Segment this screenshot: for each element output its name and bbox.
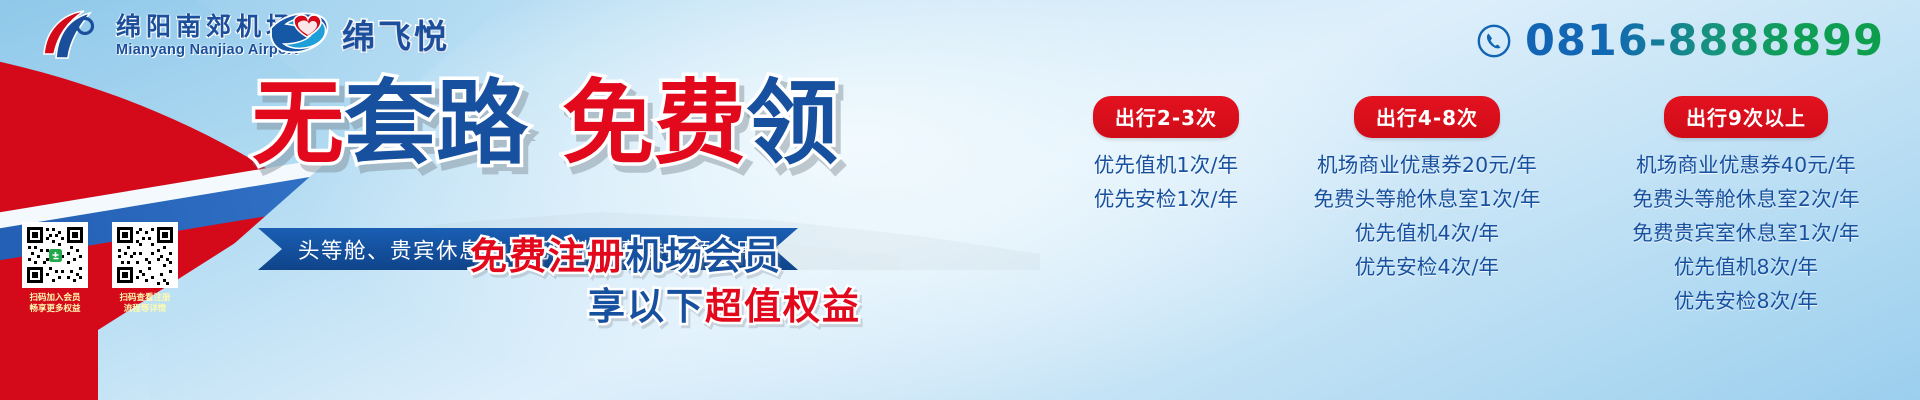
qr-caption-line-2: 畅享更多权益 [29, 304, 80, 315]
benefit-item: 机场商业优惠券20元/年 [1317, 151, 1537, 180]
benefit-item: 优先值机4次/年 [1355, 219, 1500, 248]
airport-logo: 绵阳南郊机场 Mianyang Nanjiao Airport [40, 8, 298, 64]
slogan-line-1-blue: 机场会员 [626, 235, 782, 278]
slogan-line-1-red: 免费注册 [470, 235, 626, 278]
slogan-line-2-red: 超值权益 [705, 285, 861, 328]
tier-column-2: 出行4-8次 机场商业优惠券20元/年 免费头等舱休息室1次/年 优先值机4次/… [1282, 96, 1572, 317]
benefit-item: 机场商业优惠券40元/年 [1636, 151, 1856, 180]
airport-swoosh-logo-icon [40, 8, 102, 64]
qr-caption-membership: 扫码加入会员 畅享更多权益 [29, 293, 80, 316]
tier-badge-1: 出行2-3次 [1093, 96, 1239, 138]
banner-header: 绵阳南郊机场 Mianyang Nanjiao Airport 绵飞悦 0816… [0, 0, 1920, 76]
tier-badge-3: 出行9次以上 [1664, 96, 1828, 138]
benefit-item: 优先安检4次/年 [1355, 253, 1500, 282]
headline-part-2: 套路 [344, 78, 528, 170]
tier-column-1: 出行2-3次 优先值机1次/年 优先安检1次/年 [1050, 96, 1282, 317]
qr-caption-line-1: 扫码查看注册 [119, 293, 170, 304]
qr-block-membership[interactable]: 扫码加入会员 畅享更多权益 [22, 222, 88, 316]
slogan-line-1: 免费注册机场会员 [470, 238, 782, 275]
slogan-line-2: 享以下超值权益 [588, 288, 861, 325]
qr-code-pattern [115, 225, 175, 285]
qr-caption-guide: 扫码查看注册 流程等详情 [119, 293, 170, 316]
benefit-item: 优先安检8次/年 [1674, 287, 1819, 316]
heart-wing-logo-icon [268, 10, 332, 58]
qr-caption-line-1: 扫码加入会员 [29, 293, 80, 304]
qr-code-icon[interactable] [112, 222, 178, 288]
qr-code-icon[interactable] [22, 222, 88, 288]
qr-code-group: 扫码加入会员 畅享更多权益 [22, 222, 178, 316]
benefit-item: 免费头等舱休息室1次/年 [1313, 185, 1540, 214]
phone-number: 0816-8888899 [1525, 16, 1884, 66]
benefit-item: 优先值机1次/年 [1094, 151, 1239, 180]
headline-part-3: 免费 [562, 78, 746, 170]
benefit-item: 免费头等舱休息室2次/年 [1632, 185, 1859, 214]
tier-benefits-3: 机场商业优惠券40元/年 免费头等舱休息室2次/年 免费贵宾室休息室1次/年 优… [1632, 151, 1859, 317]
brand-logo: 绵飞悦 [268, 10, 450, 58]
headline-part-1: 无 [252, 78, 344, 170]
headline-part-4: 领 [746, 78, 838, 170]
contact-phone[interactable]: 0816-8888899 [1477, 16, 1884, 66]
headline: 无 套路 免费 领 [252, 78, 838, 170]
tier-column-3: 出行9次以上 机场商业优惠券40元/年 免费头等舱休息室2次/年 免费贵宾室休息… [1572, 96, 1920, 317]
slogan-line-2-blue: 享以下 [588, 285, 705, 328]
benefit-tiers: 出行2-3次 优先值机1次/年 优先安检1次/年 出行4-8次 机场商业优惠券2… [1050, 96, 1920, 317]
promo-banner: 绵阳南郊机场 Mianyang Nanjiao Airport 绵飞悦 0816… [0, 0, 1920, 400]
benefit-item: 免费贵宾室休息室1次/年 [1632, 219, 1859, 248]
tier-benefits-2: 机场商业优惠券20元/年 免费头等舱休息室1次/年 优先值机4次/年 优先安检4… [1313, 151, 1540, 282]
benefit-item: 优先安检1次/年 [1094, 185, 1239, 214]
tier-badge-2: 出行4-8次 [1354, 96, 1500, 138]
brand-name-cn: 绵飞悦 [342, 10, 450, 58]
qr-code-pattern [25, 225, 85, 285]
qr-block-guide[interactable]: 扫码查看注册 流程等详情 [112, 222, 178, 316]
phone-icon [1477, 24, 1511, 58]
benefit-item: 优先值机8次/年 [1674, 253, 1819, 282]
qr-caption-line-2: 流程等详情 [119, 304, 170, 315]
tier-benefits-1: 优先值机1次/年 优先安检1次/年 [1094, 151, 1239, 214]
